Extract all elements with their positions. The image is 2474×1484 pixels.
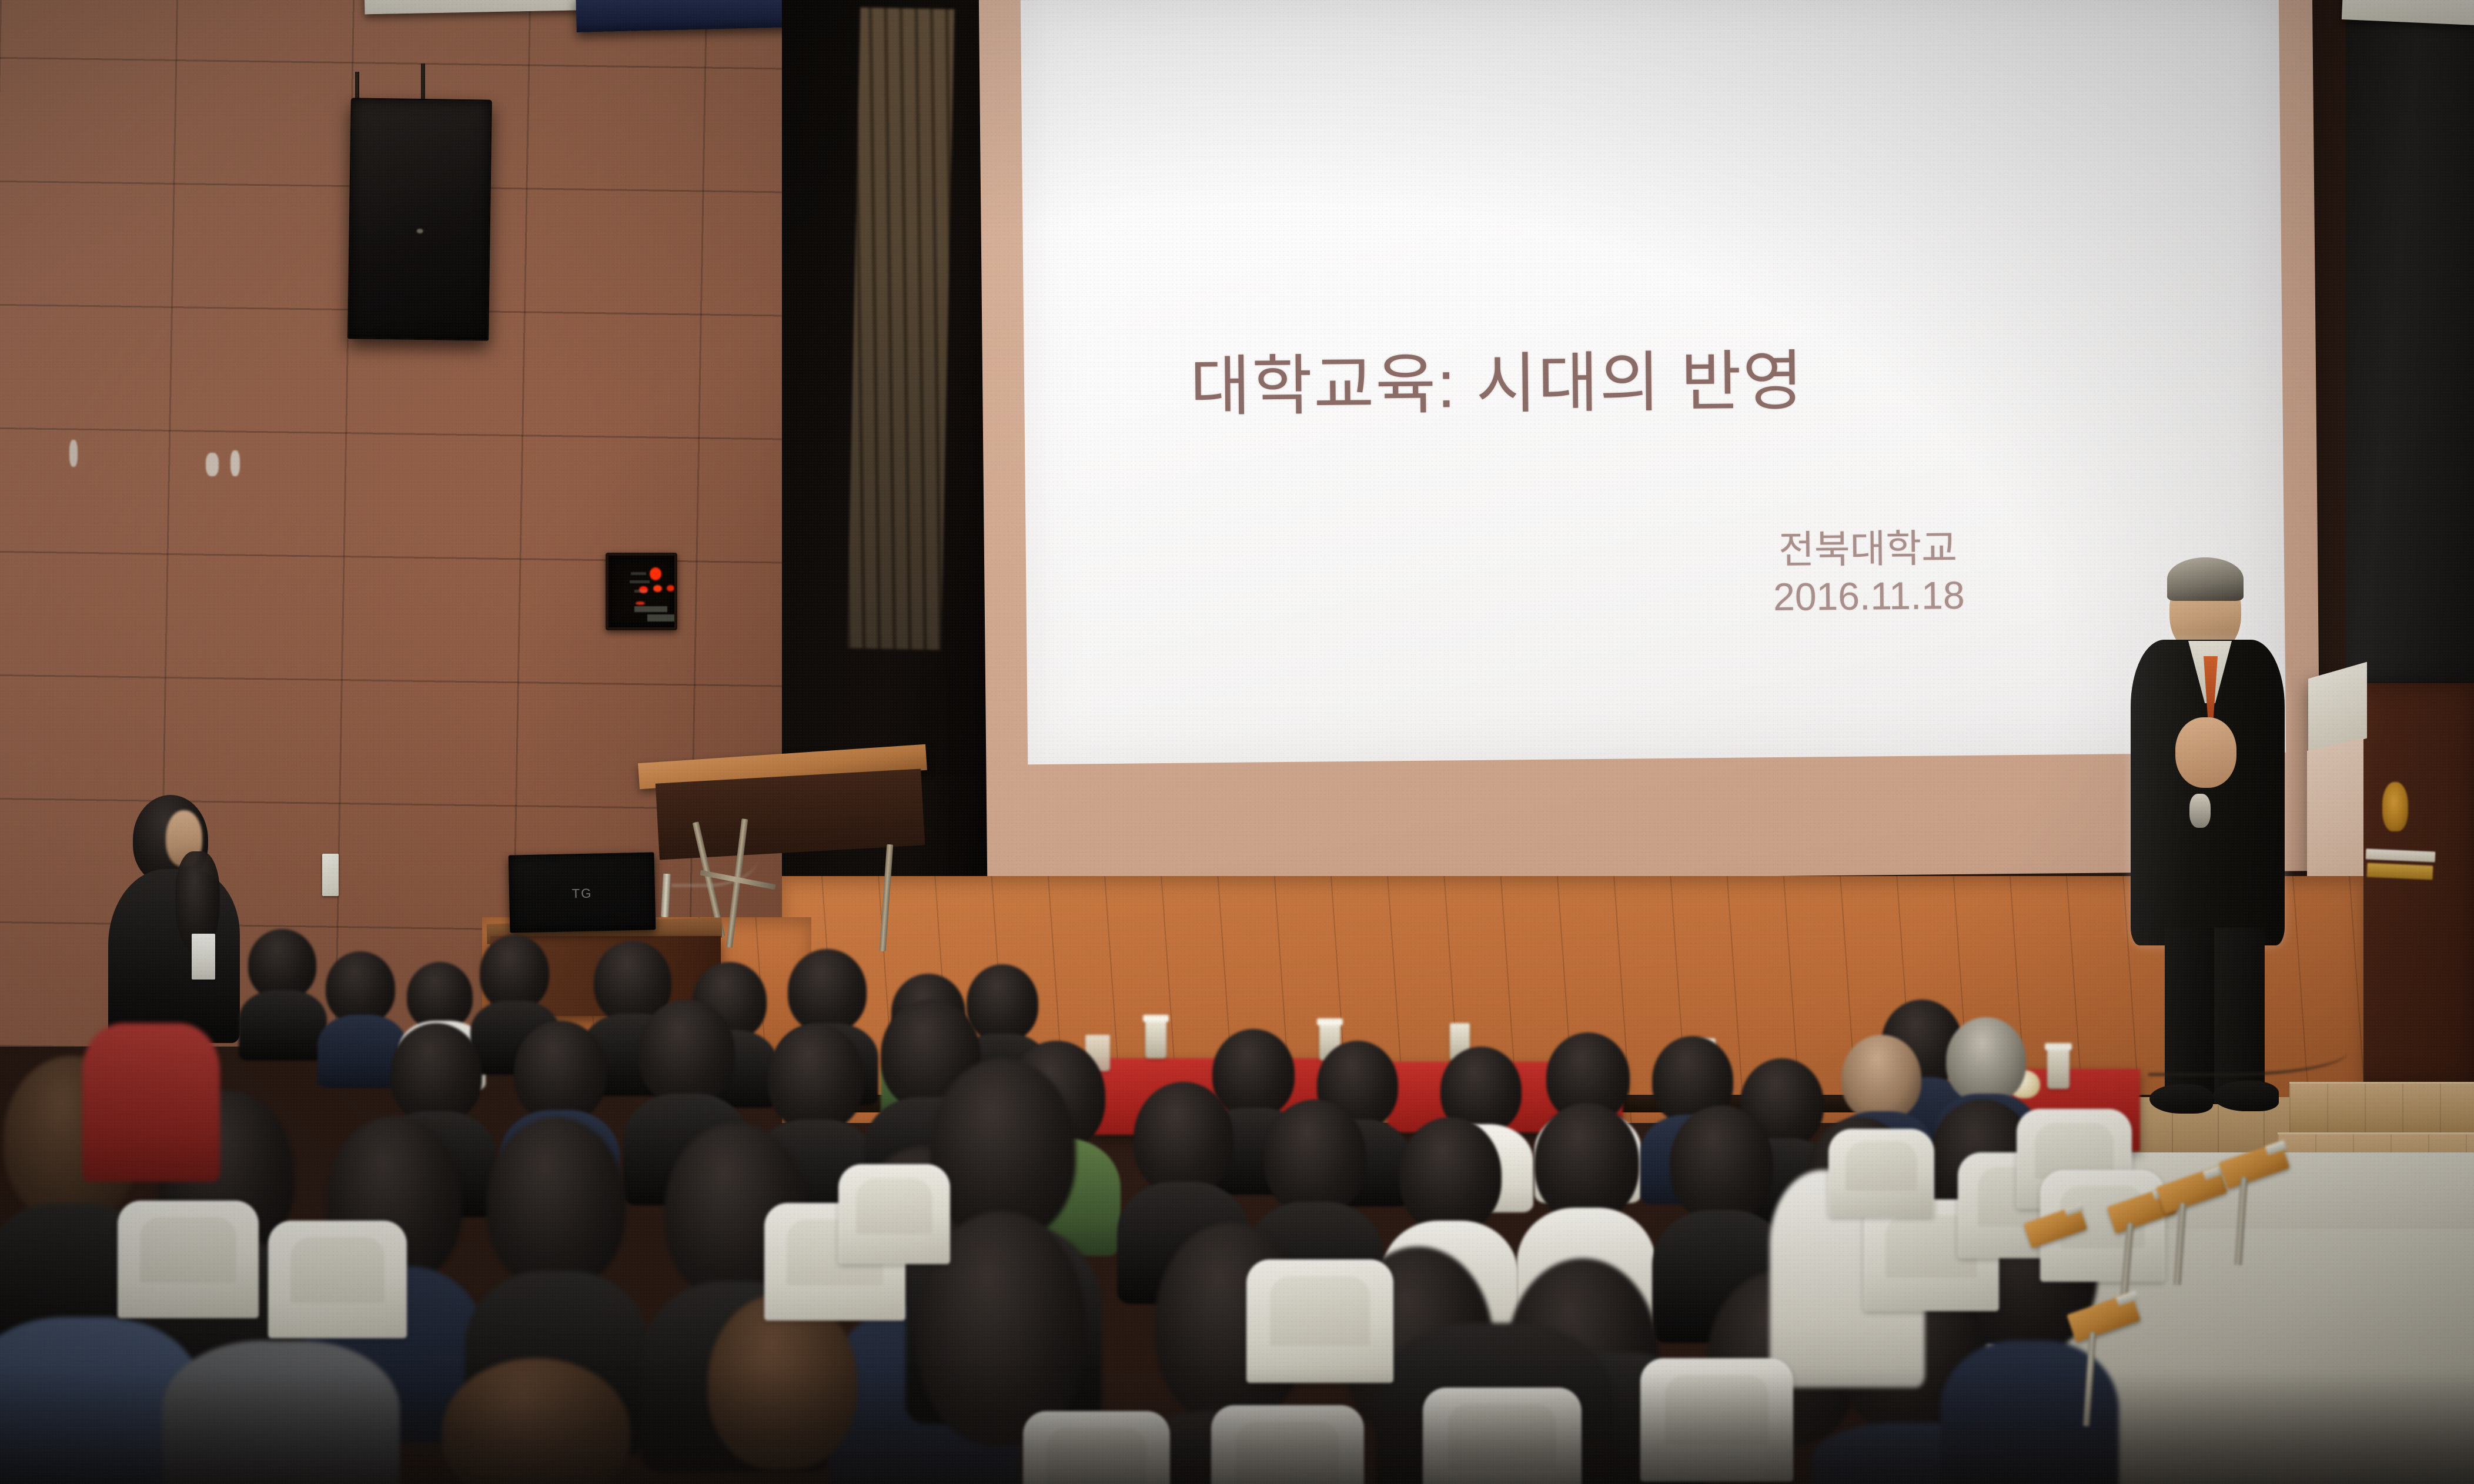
ceiling-speaker (347, 98, 492, 340)
head (1670, 1105, 1773, 1222)
staff-member-standing-left (105, 795, 258, 1042)
staff-coat (108, 869, 240, 1043)
head (638, 1000, 735, 1105)
panel-switch-row-2[interactable] (647, 614, 676, 621)
presenter-leg-right (2214, 928, 2265, 1104)
wall-control-panel[interactable] (606, 553, 677, 630)
speaker-driver-dot (417, 229, 423, 233)
led-indicator-red-top (650, 567, 661, 580)
panel-switch-row-1[interactable] (634, 606, 667, 612)
head (788, 949, 867, 1032)
monitor-brand-label: TG (509, 885, 655, 903)
paper-cup-lid-1 (1143, 1015, 1169, 1022)
foreground-blur-mass (0, 1370, 2474, 1484)
slide-title: 대학교육: 시대의 반영 (1189, 328, 1804, 429)
presenter-shoe-left (2149, 1084, 2213, 1114)
projection-screen-surface: 대학교육: 시대의 반영 전북대학교 2016.11.18 (1021, 0, 2286, 764)
auditorium-seat-2[interactable] (268, 1221, 407, 1338)
seat-cushion (1270, 1276, 1370, 1346)
handheld-microphone[interactable] (2189, 794, 2211, 828)
head (487, 1117, 626, 1289)
presenter-shoe-right (2213, 1081, 2279, 1111)
id-badge (192, 934, 215, 980)
audience-member-f20 (82, 1023, 218, 1176)
slide-institution: 전북대학교 (1778, 523, 1957, 574)
tape-mark-1 (69, 440, 78, 467)
head (326, 951, 395, 1024)
paper-cup-lid-6 (2045, 1043, 2072, 1050)
paper-cup-1 (1145, 1018, 1166, 1058)
seat-cushion (140, 1217, 236, 1283)
audience-member-b1 (239, 929, 327, 1047)
seat-cushion (856, 1178, 932, 1234)
head (407, 962, 473, 1030)
paper-cup-lid-3 (1317, 1018, 1343, 1025)
auditorium-photo-scene: 대학교육: 시대의 반영 전북대학교 2016.11.18 TG (0, 0, 2474, 1484)
seat-cushion (1846, 1141, 1917, 1191)
presenter-leg-left (2165, 928, 2214, 1104)
presenter-hands (2175, 717, 2236, 788)
head (768, 1024, 864, 1131)
head (248, 929, 316, 1000)
slide-date: 2016.11.18 (1773, 570, 1965, 622)
head (1134, 1082, 1233, 1195)
presenter-hair (2167, 557, 2244, 601)
auditorium-seat-14[interactable] (1828, 1129, 1934, 1217)
auditorium-seat-1[interactable] (118, 1201, 259, 1318)
panel-label-line-1 (631, 572, 646, 575)
tape-mark-3 (230, 450, 240, 476)
university-emblem-icon (2382, 782, 2408, 831)
head (1534, 1103, 1639, 1221)
auditorium-seat-4[interactable] (838, 1164, 950, 1264)
head (1841, 1035, 1921, 1121)
head (390, 1023, 482, 1123)
tape-mark-2 (206, 453, 219, 476)
panel-label-line-3 (634, 590, 647, 593)
head (1399, 1117, 1502, 1232)
right-dark-wall (2346, 0, 2474, 694)
head (480, 935, 549, 1010)
panel-label-line-2 (630, 580, 650, 583)
monitor-screen[interactable]: TG (509, 852, 656, 932)
auditorium-seat-5[interactable] (1246, 1259, 1393, 1383)
led-indicator-small-red (636, 601, 645, 605)
head (1946, 1017, 2026, 1103)
curtain-strip (847, 7, 955, 650)
body-red-jacket (82, 1023, 220, 1182)
body (239, 990, 327, 1061)
paper-cup-6 (2047, 1047, 2070, 1089)
led-indicator-red-3 (667, 585, 674, 591)
led-indicator-red-2 (653, 585, 662, 592)
head (514, 1021, 607, 1122)
stage-step-1 (2289, 1082, 2474, 1136)
wall-outlet (322, 854, 339, 896)
seat-cushion (290, 1237, 385, 1303)
head (1264, 1099, 1366, 1215)
podium-nameplate-text (2367, 863, 2433, 880)
